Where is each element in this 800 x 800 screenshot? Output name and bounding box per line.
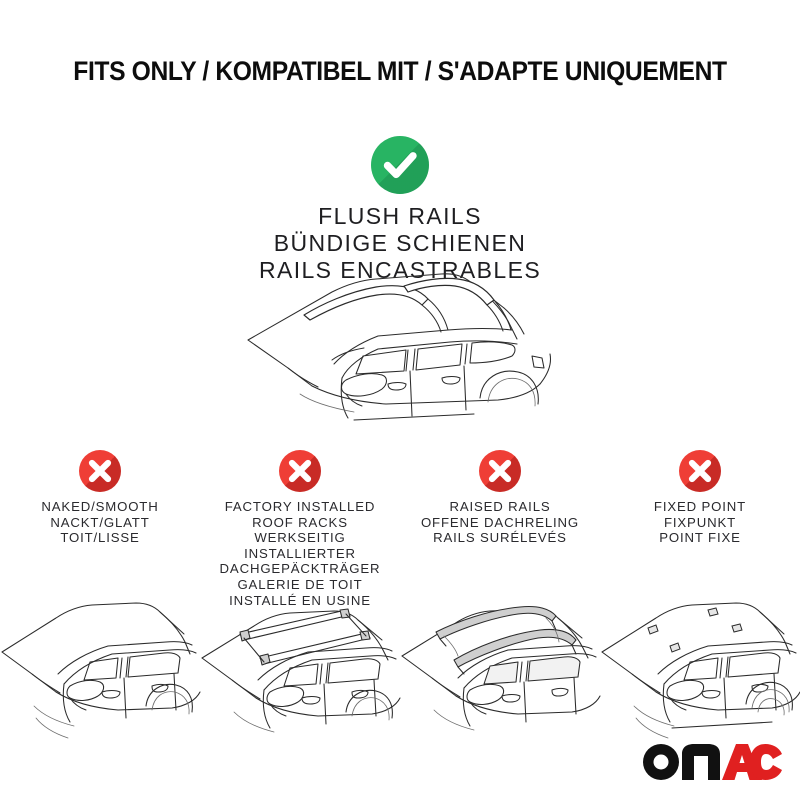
- suv-crossbars-illustration: [196, 600, 404, 750]
- item-label-en: FACTORY INSTALLED ROOF RACKS: [202, 499, 398, 530]
- x-circle-icon: [79, 450, 121, 492]
- incompatible-section: NAKED/SMOOTH NACKT/GLATT TOIT/LISSE: [0, 450, 800, 750]
- compatible-label-en: FLUSH RAILS: [0, 203, 800, 230]
- item-label-en: RAISED RAILS: [421, 499, 579, 515]
- compatible-badge-wrap: [0, 136, 800, 194]
- check-circle-icon: [371, 136, 429, 194]
- omac-logo-glyphs: [642, 738, 782, 786]
- badge-wrap: [600, 450, 800, 492]
- logo-letter-c: [750, 744, 782, 780]
- page-title: FITS ONLY / KOMPATIBEL MIT / S'ADAPTE UN…: [28, 56, 772, 87]
- badge-wrap: [200, 450, 400, 492]
- item-labels: RAISED RAILS OFFENE DACHRELING RAILS SUR…: [419, 499, 581, 546]
- item-label-de: WERKSEITIG INSTALLIERTER: [202, 530, 398, 561]
- item-label-fr: RAILS SURÉLEVÉS: [421, 530, 579, 546]
- incompatible-item-naked-smooth: NAKED/SMOOTH NACKT/GLATT TOIT/LISSE: [0, 450, 200, 750]
- compatible-label-de: BÜNDIGE SCHIENEN: [0, 230, 800, 257]
- item-label-de: OFFENE DACHRELING: [421, 515, 579, 531]
- item-labels: NAKED/SMOOTH NACKT/GLATT TOIT/LISSE: [39, 499, 160, 546]
- suv-bare-roof-illustration: [0, 600, 204, 750]
- suv-raised-rails-illustration: [396, 600, 604, 750]
- item-label-en: NAKED/SMOOTH: [41, 499, 158, 515]
- omac-logo: [642, 738, 782, 786]
- check-glyph: [371, 136, 429, 194]
- compatible-section: FLUSH RAILS BÜNDIGE SCHIENEN RAILS ENCAS…: [0, 136, 800, 284]
- x-glyph: [479, 450, 521, 492]
- x-glyph: [79, 450, 121, 492]
- x-circle-icon: [479, 450, 521, 492]
- x-glyph: [279, 450, 321, 492]
- suv-flush-rails-illustration: [236, 268, 586, 448]
- suv-fixed-points-illustration: [596, 600, 800, 750]
- x-circle-icon: [279, 450, 321, 492]
- item-labels: FACTORY INSTALLED ROOF RACKS WERKSEITIG …: [200, 499, 400, 608]
- badge-wrap: [400, 450, 600, 492]
- item-label-en: FIXED POINT: [654, 499, 746, 515]
- x-glyph: [679, 450, 721, 492]
- logo-letter-o: [643, 744, 679, 780]
- item-label-de-2: DACHGEPÄCKTRÄGER: [202, 561, 398, 577]
- item-label-de: FIXPUNKT: [654, 515, 746, 531]
- item-label-fr: TOIT/LISSE: [41, 530, 158, 546]
- incompatible-item-factory-roof-racks: FACTORY INSTALLED ROOF RACKS WERKSEITIG …: [200, 450, 400, 750]
- item-label-fr: POINT FIXE: [654, 530, 746, 546]
- item-label-de: NACKT/GLATT: [41, 515, 158, 531]
- logo-letter-m: [682, 744, 720, 780]
- incompatible-item-raised-rails: RAISED RAILS OFFENE DACHRELING RAILS SUR…: [400, 450, 600, 750]
- incompatible-item-fixed-point: FIXED POINT FIXPUNKT POINT FIXE: [600, 450, 800, 750]
- x-circle-icon: [679, 450, 721, 492]
- item-labels: FIXED POINT FIXPUNKT POINT FIXE: [652, 499, 748, 546]
- badge-wrap: [0, 450, 200, 492]
- compatibility-infographic: FITS ONLY / KOMPATIBEL MIT / S'ADAPTE UN…: [0, 0, 800, 800]
